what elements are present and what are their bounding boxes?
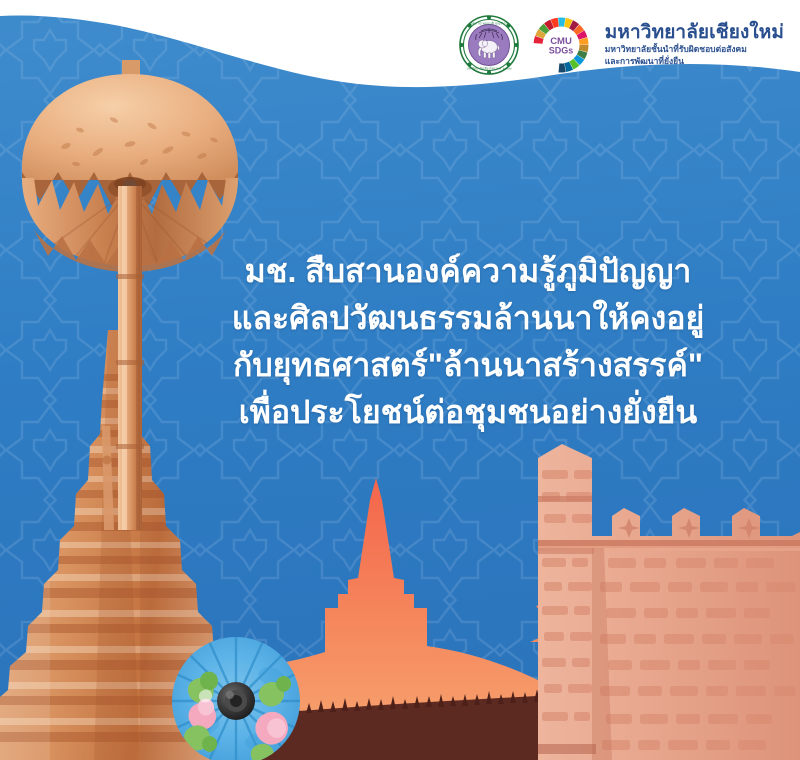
poster-canvas: มช. สืบสานองค์ความรู้ภูมิปัญญา และศิลปวั…	[0, 0, 800, 760]
header-logo-bar: อตฺตานํ ทมยนฺติ ปณฺฑิตา มหาวิทยาลัยเชียง…	[0, 6, 800, 84]
headline-line-4: เพื่อประโยชน์ต่อชุมชนอย่างยั่งยืน	[160, 389, 776, 436]
bosang-painted-umbrella-illustration	[160, 625, 320, 760]
seal-ring-text-top: อตฺตานํ ทมยนฺติ ปณฺฑิตา	[470, 21, 507, 25]
seal-ring-text-bottom: มหาวิทยาลัยเชียงใหม่ พ.ศ. ๒๕๐๗	[466, 67, 512, 71]
cmu-sdgs-wheel-icon: CMU SDGs	[529, 13, 593, 77]
chiang-mai-city-wall-illustration	[500, 440, 800, 760]
headline-line-2: และศิลปวัฒนธรรมล้านนาให้คงอยู่	[160, 295, 776, 342]
headline-line-1: มช. สืบสานองค์ความรู้ภูมิปัญญา	[160, 248, 776, 295]
sdgs-center-line2: SDGs	[549, 46, 574, 56]
university-wordmark: มหาวิทยาลัยเชียงใหม่ มหาวิทยาลัยชั้นนำที…	[605, 23, 784, 68]
university-tagline-line-2: และการพัฒนาที่ยั่งยืน	[605, 56, 784, 67]
cmu-university-seal-icon: อตฺตานํ ทมยนฺติ ปณฺฑิตา มหาวิทยาลัยเชียง…	[458, 14, 520, 76]
headline-block: มช. สืบสานองค์ความรู้ภูมิปัญญา และศิลปวั…	[0, 248, 800, 436]
headline-line-3: กับยุทธศาสตร์"ล้านนาสร้างสรรค์"	[160, 342, 776, 389]
university-name: มหาวิทยาลัยเชียงใหม่	[605, 23, 784, 44]
university-tagline-line-1: มหาวิทยาลัยชั้นนำที่รับผิดชอบต่อสังคม	[605, 44, 784, 55]
